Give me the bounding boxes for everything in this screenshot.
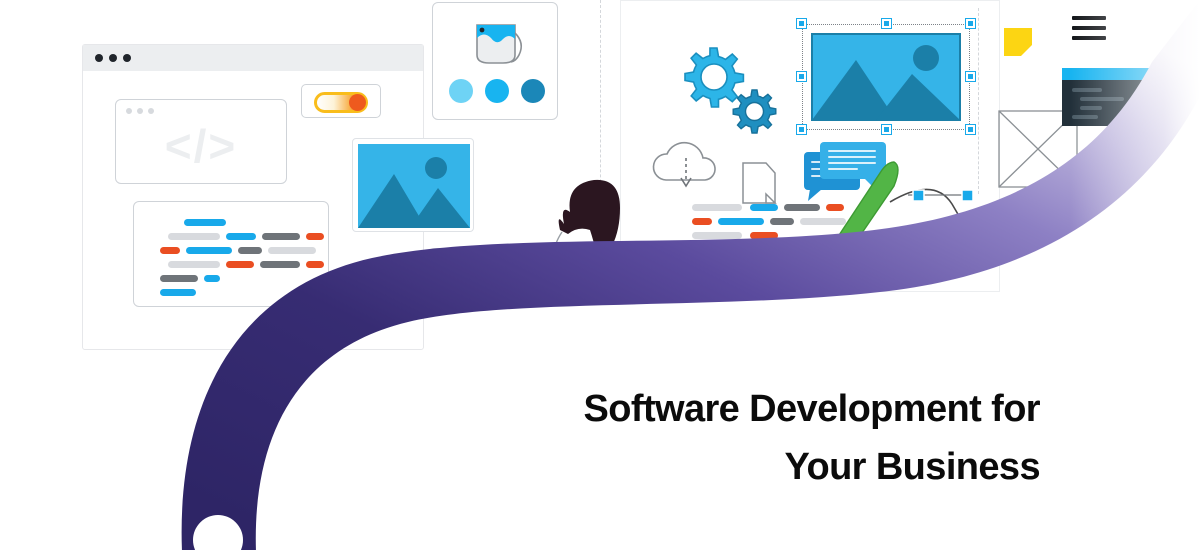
headline-line-1: Software Development for (430, 380, 1040, 438)
headline-line-2: Your Business (430, 438, 1040, 496)
page-title: Software Development for Your Business (430, 380, 1040, 496)
hero-banner: </> T (0, 0, 1200, 550)
